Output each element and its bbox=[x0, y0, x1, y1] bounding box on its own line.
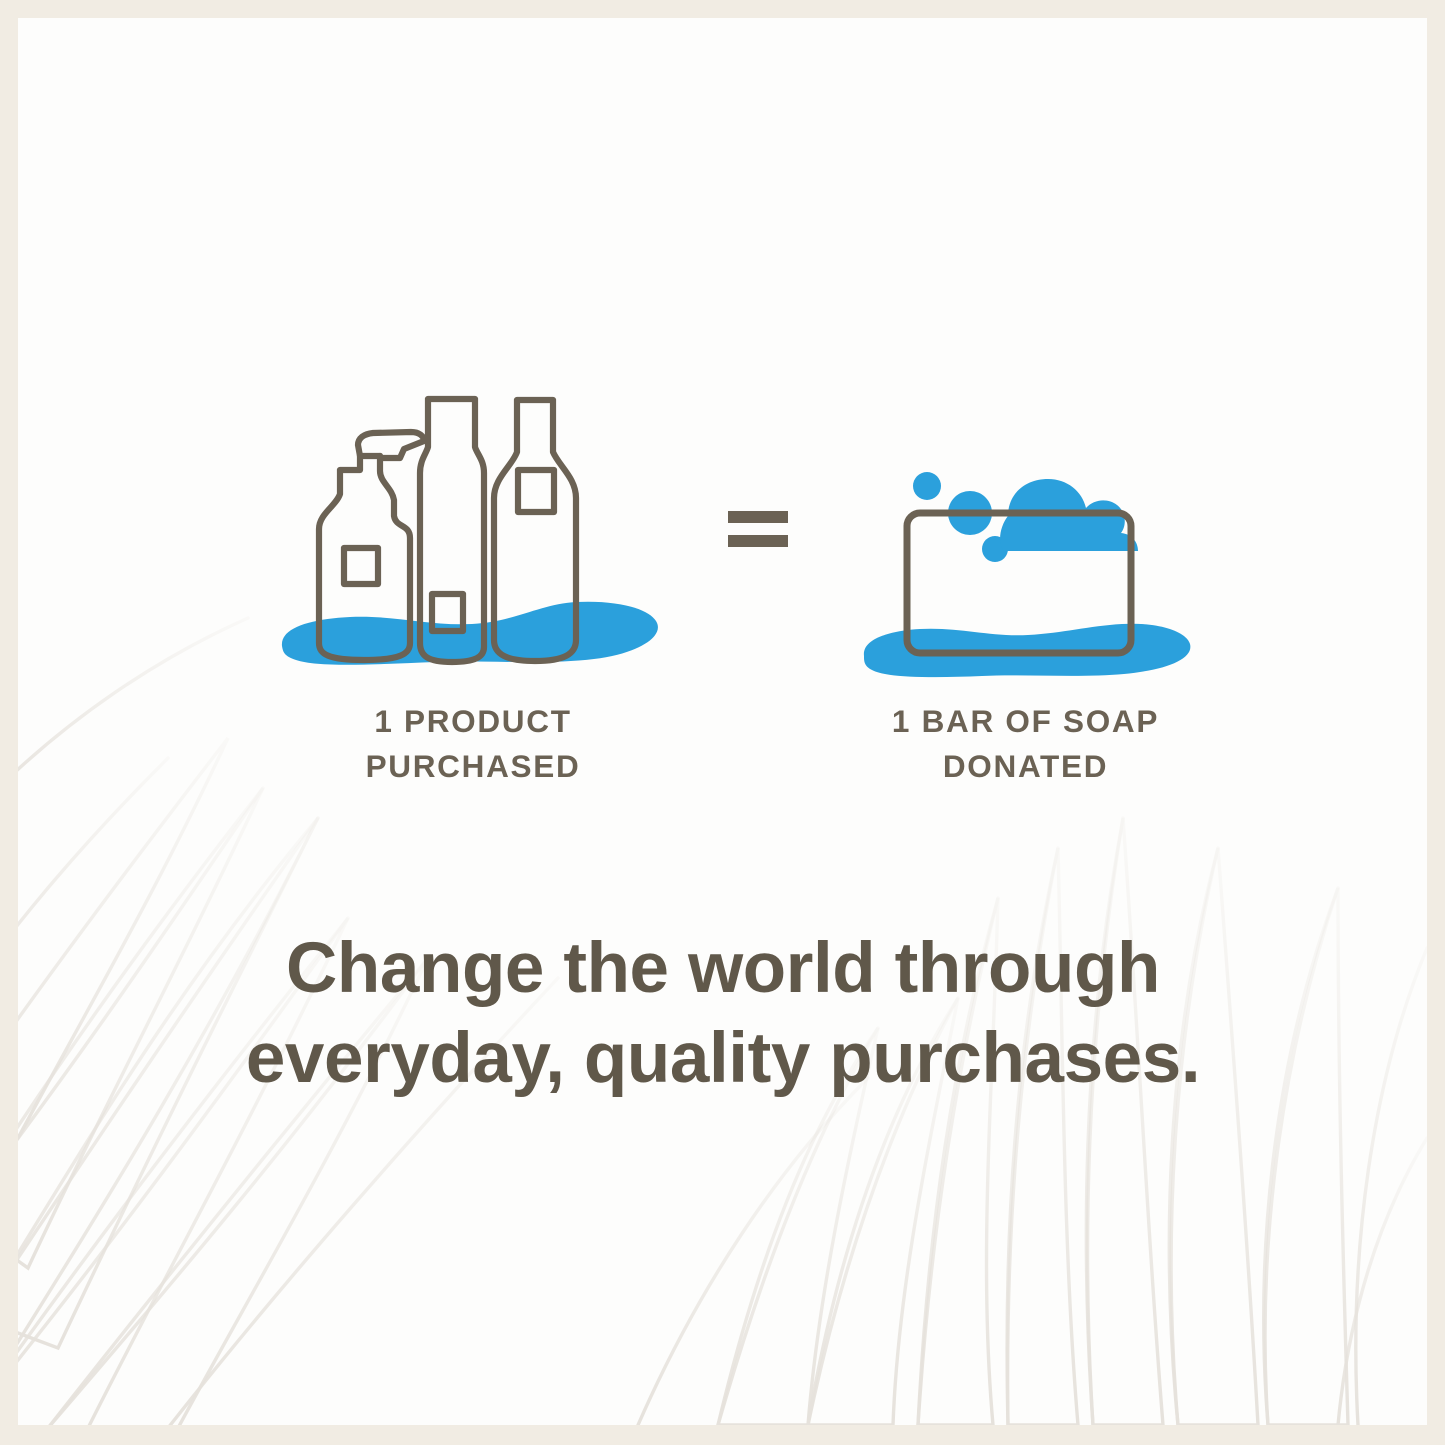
foam-bubbles bbox=[913, 472, 1138, 562]
headline-line-2: everyday, quality purchases. bbox=[78, 1014, 1368, 1104]
caption-left-line1: 1 PRODUCT bbox=[374, 703, 571, 739]
headline-line-1: Change the world through bbox=[78, 924, 1368, 1014]
equals-sign-icon bbox=[723, 498, 793, 558]
poster-canvas: 1 PRODUCT PURCHASED 1 BAR OF SOAP DONATE… bbox=[18, 18, 1427, 1425]
three-bottles-icon bbox=[276, 388, 676, 688]
poster-frame: 1 PRODUCT PURCHASED 1 BAR OF SOAP DONATE… bbox=[0, 0, 1445, 1445]
caption-right-line2: DONATED bbox=[943, 748, 1108, 784]
donation-equation-row bbox=[18, 388, 1427, 688]
soap-bar-with-bubbles-icon bbox=[856, 448, 1196, 698]
caption-right-line1: 1 BAR OF SOAP bbox=[892, 703, 1159, 739]
headline: Change the world through everyday, quali… bbox=[78, 924, 1368, 1104]
caption-product-purchased: 1 PRODUCT PURCHASED bbox=[253, 699, 693, 788]
caption-soap-donated: 1 BAR OF SOAP DONATED bbox=[783, 699, 1268, 788]
caption-left-line2: PURCHASED bbox=[366, 748, 581, 784]
